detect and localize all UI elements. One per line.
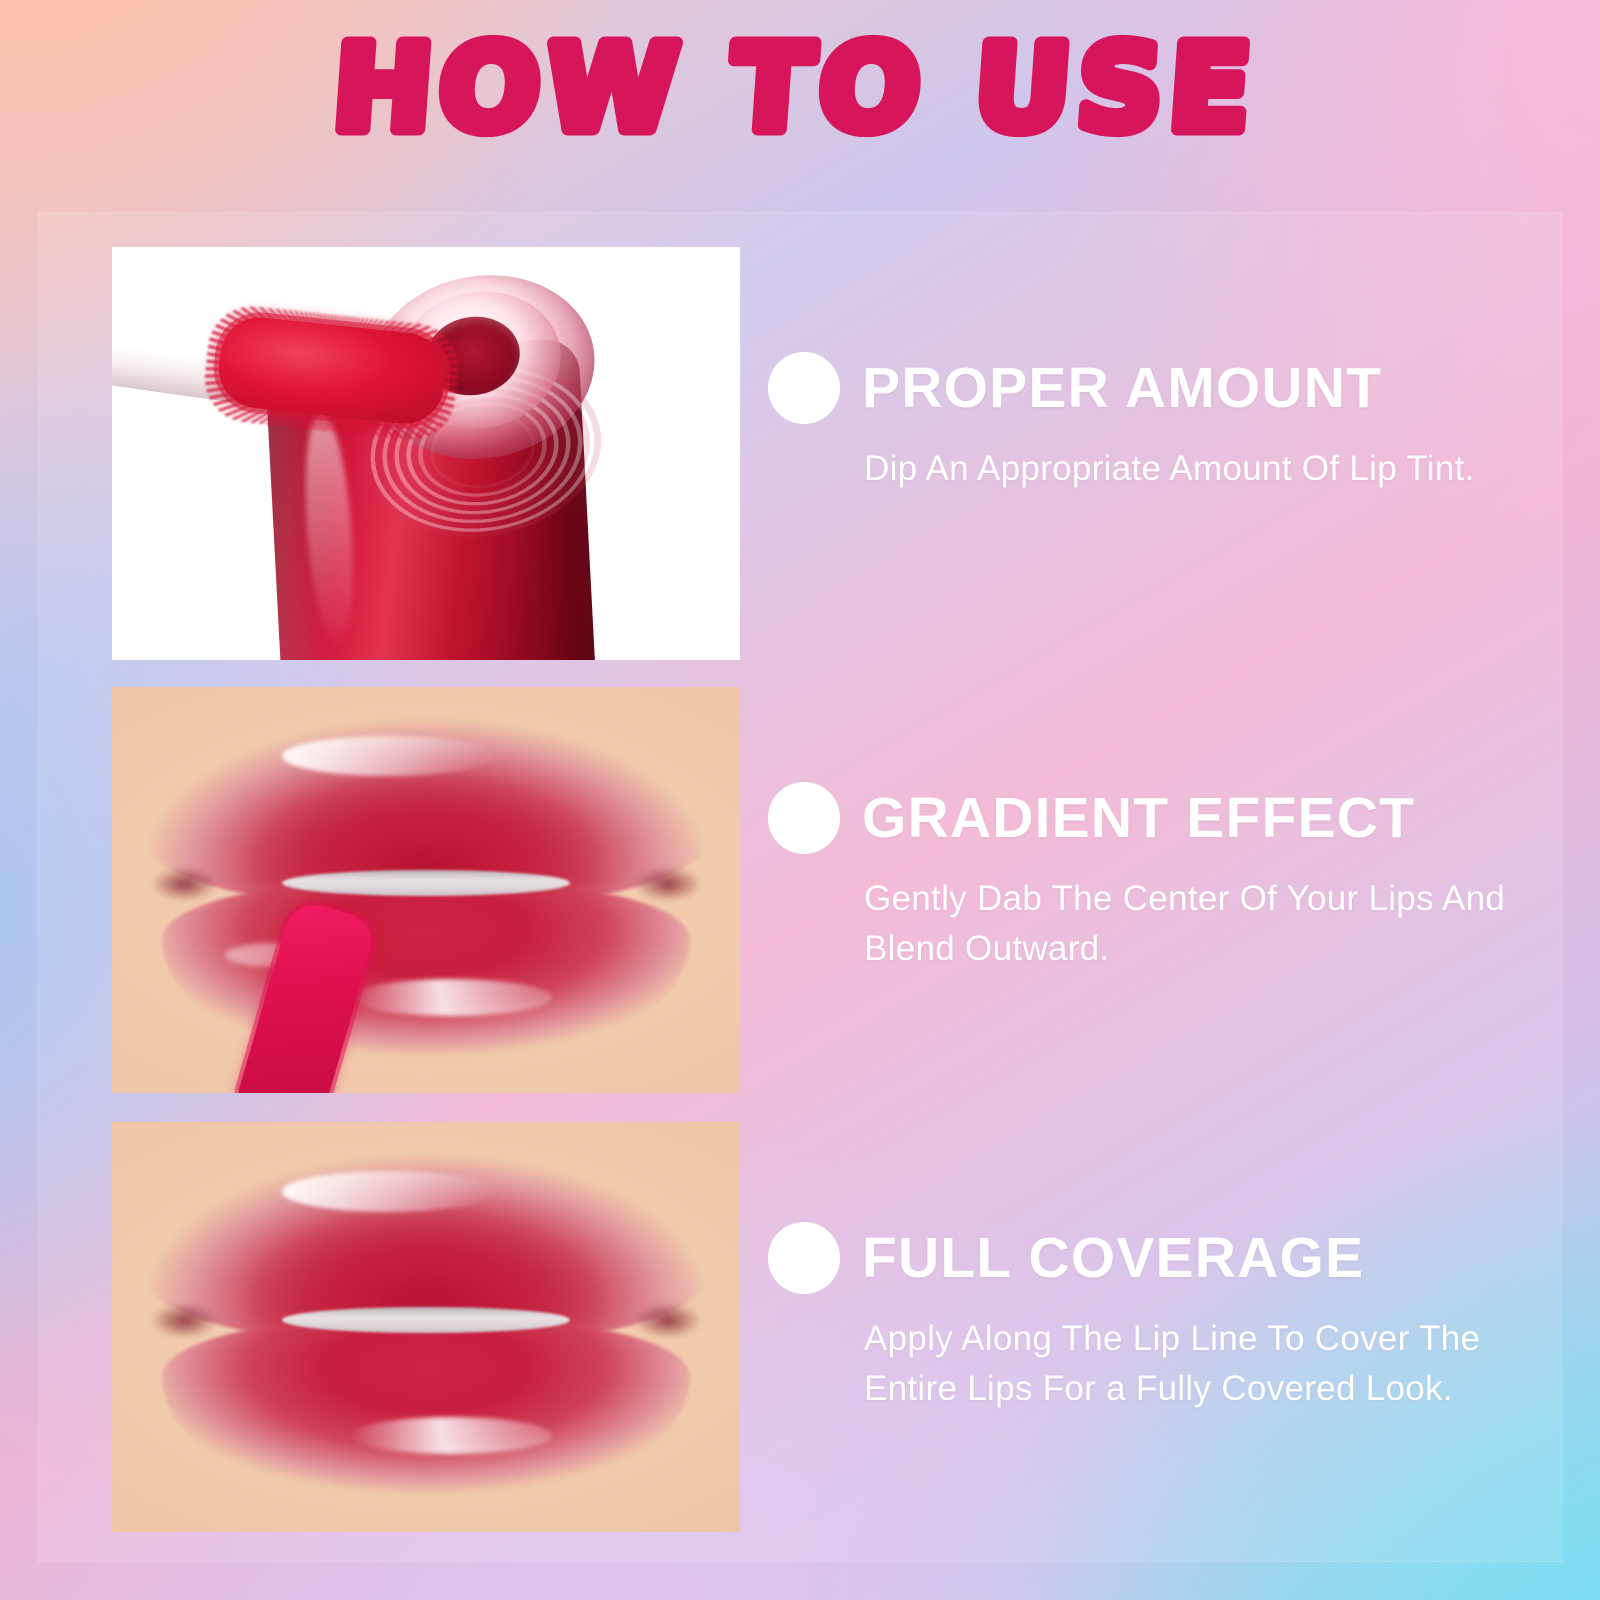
- step-image-full-coverage: [112, 1122, 740, 1532]
- badge-number-icon: 02: [768, 782, 840, 854]
- step-header: 03 FULL COVERAGE: [768, 1222, 1558, 1294]
- teeth-gap: [282, 870, 571, 896]
- step-title: PROPER AMOUNT: [862, 360, 1382, 417]
- lip-gloss-highlight-lower: [351, 1417, 552, 1454]
- lip-corner-left: [150, 866, 219, 903]
- step-gradient-effect: 02 GRADIENT EFFECT Gently Dab The Center…: [768, 782, 1558, 973]
- page-title: HOW TO USE: [0, 24, 1600, 164]
- title-graphic: HOW TO USE: [300, 24, 1300, 164]
- step-proper-amount: 01 PROPER AMOUNT Dip An Appropriate Amou…: [768, 352, 1558, 494]
- lip-gloss-highlight-upper: [282, 1171, 496, 1212]
- step-image-proper-amount: [112, 247, 740, 660]
- step-number-badge-02: 02: [768, 782, 840, 854]
- step-header: 01 PROPER AMOUNT: [768, 352, 1558, 424]
- teeth-gap: [282, 1307, 571, 1334]
- lip-corner-right: [633, 866, 702, 903]
- badge-number-icon: 01: [768, 352, 840, 424]
- badge-number-icon: 03: [768, 1222, 840, 1294]
- how-to-use-infographic: HOW TO USE: [0, 0, 1600, 1600]
- step-title: FULL COVERAGE: [862, 1230, 1364, 1287]
- step-description: Apply Along The Lip Line To Cover The En…: [864, 1314, 1524, 1413]
- lip-gloss-highlight-upper: [282, 736, 496, 777]
- step-number-badge-03: 03: [768, 1222, 840, 1294]
- lip-corner-left: [150, 1302, 219, 1339]
- step-number-badge-01: 01: [768, 352, 840, 424]
- lip-gloss-highlight-lower: [351, 979, 552, 1016]
- step-image-gradient-effect: [112, 687, 740, 1093]
- step-description: Gently Dab The Center Of Your Lips And B…: [864, 874, 1524, 973]
- step-title: GRADIENT EFFECT: [862, 790, 1415, 847]
- step-description: Dip An Appropriate Amount Of Lip Tint.: [864, 444, 1524, 494]
- step-full-coverage: 03 FULL COVERAGE Apply Along The Lip Lin…: [768, 1222, 1558, 1413]
- page-title-text: HOW TO USE: [329, 24, 1262, 157]
- step-header: 02 GRADIENT EFFECT: [768, 782, 1558, 854]
